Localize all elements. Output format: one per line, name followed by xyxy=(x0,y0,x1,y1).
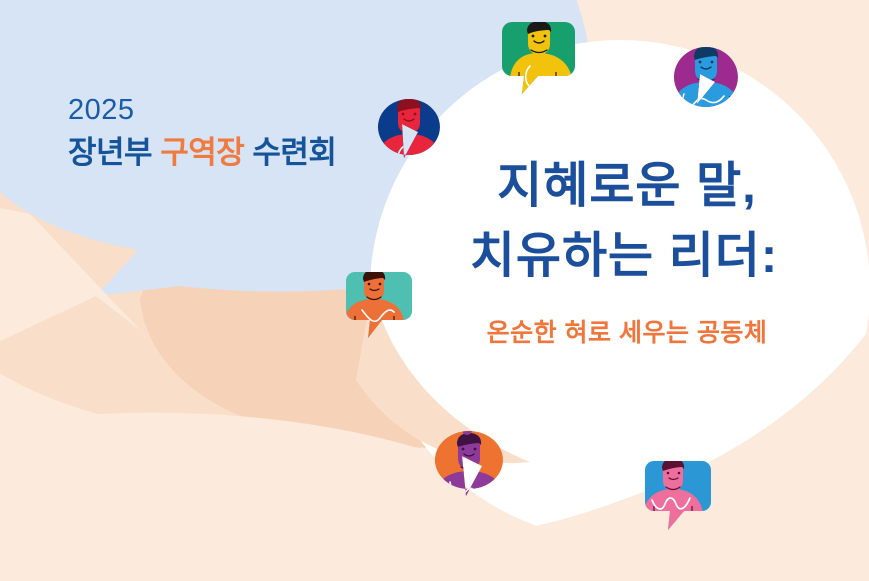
poster-canvas: 2025 장년부 구역장 수련회 지혜로운 말, 치유하는 리더: 온순한 혀로… xyxy=(0,0,869,581)
event-name-prefix: 장년부 xyxy=(68,135,160,170)
event-name: 장년부 구역장 수련회 xyxy=(68,137,336,168)
headline-line-1: 지혜로운 말, xyxy=(452,152,802,222)
event-title-block: 2025 장년부 구역장 수련회 xyxy=(68,96,336,168)
headline-block: 지혜로운 말, 치유하는 리더: 온순한 혀로 세우는 공동체 xyxy=(452,152,802,349)
event-name-accent: 구역장 xyxy=(160,135,244,170)
event-year: 2025 xyxy=(68,96,336,125)
headline-line-2: 치유하는 리더: xyxy=(446,222,802,292)
event-name-suffix: 수련회 xyxy=(244,135,336,170)
headline-subtitle: 온순한 혀로 세우는 공동체 xyxy=(452,313,802,349)
